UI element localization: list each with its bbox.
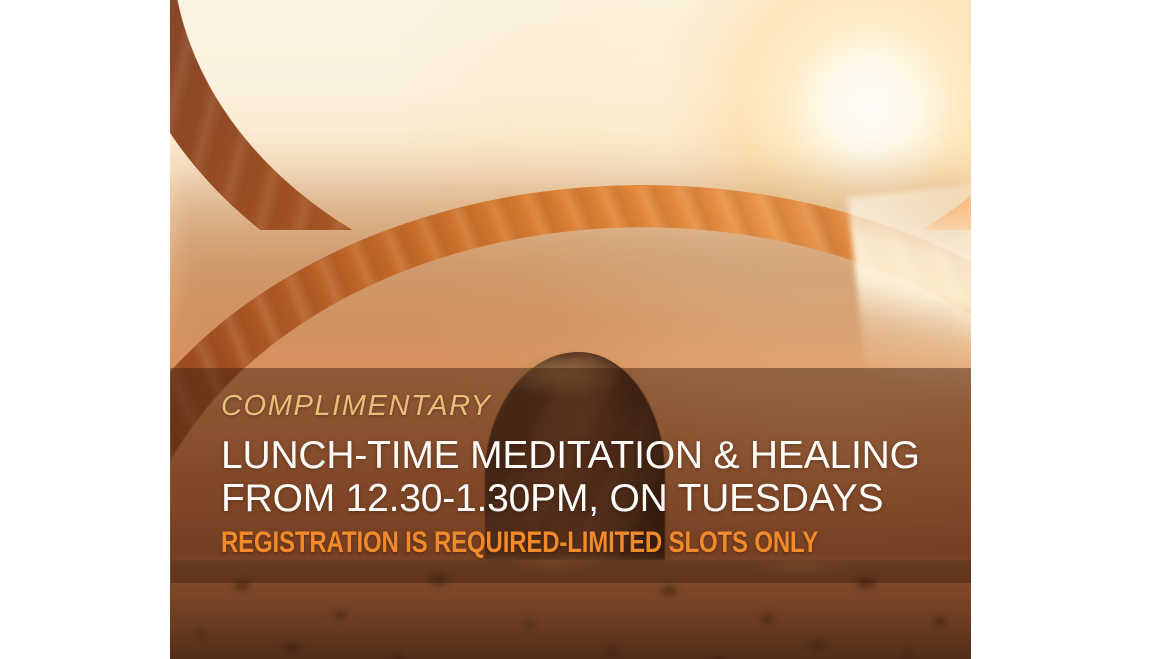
caption-text-block: COMPLIMENTARY LUNCH-TIME MEDITATION & HE… <box>221 368 951 583</box>
eyebrow-label: COMPLIMENTARY <box>221 390 492 423</box>
headline-line-2: FROM 12.30-1.30PM, ON TUESDAYS <box>221 479 883 518</box>
headline-line-1: LUNCH-TIME MEDITATION & HEALING <box>221 436 920 475</box>
registration-notice: REGISTRATION IS REQUIRED-LIMITED SLOTS O… <box>221 526 818 560</box>
caption-overlay-band: COMPLIMENTARY LUNCH-TIME MEDITATION & HE… <box>170 368 971 583</box>
meditation-event-poster: COMPLIMENTARY LUNCH-TIME MEDITATION & HE… <box>170 0 971 659</box>
poster-canvas: COMPLIMENTARY LUNCH-TIME MEDITATION & HE… <box>0 0 1172 659</box>
